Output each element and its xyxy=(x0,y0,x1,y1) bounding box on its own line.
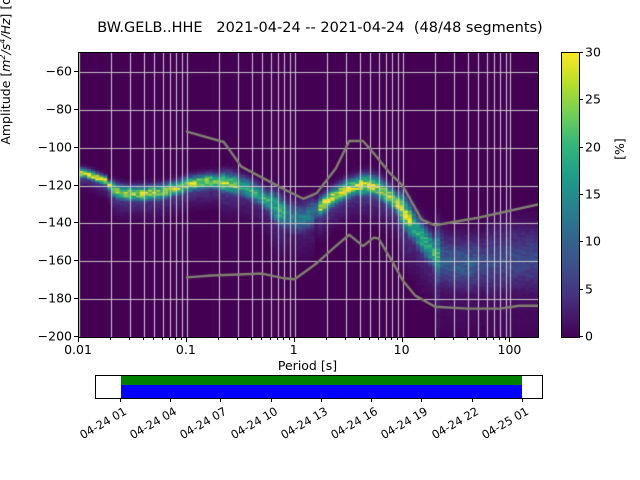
ppsd-histogram-canvas xyxy=(79,53,538,337)
x-axis-tick-mark-minor xyxy=(237,337,238,340)
colorbar-label: [%] xyxy=(612,104,627,194)
x-axis-tick-mark-major xyxy=(402,337,403,342)
y-axis-tick-mark xyxy=(74,260,78,261)
x-axis-tick-mark-minor xyxy=(345,337,346,340)
x-axis-tick-mark-minor xyxy=(477,337,478,340)
colorbar-tick-mark xyxy=(579,336,583,337)
x-axis-tick-label: 100 xyxy=(498,342,522,357)
x-axis-tick-mark-minor xyxy=(505,337,506,340)
x-axis-tick-mark-minor xyxy=(499,337,500,340)
colorbar-tick-label: 30 xyxy=(585,45,601,60)
x-axis-tick-label: 1 xyxy=(290,342,298,357)
ppsd-plot-area[interactable] xyxy=(78,52,539,338)
x-axis-tick-mark-minor xyxy=(391,337,392,340)
timeline-tick-mark xyxy=(472,398,473,402)
x-axis-tick-mark-minor xyxy=(486,337,487,340)
x-axis-tick-mark-minor xyxy=(218,337,219,340)
colorbar-tick-label: 5 xyxy=(585,281,593,296)
y-axis-tick-label: −120 xyxy=(6,177,72,192)
colorbar-tick-label: 0 xyxy=(585,329,593,344)
colorbar-tick-mark xyxy=(579,52,583,53)
y-axis-tick-label: −140 xyxy=(6,215,72,230)
timeline-tick-mark xyxy=(371,398,372,402)
x-axis-tick-mark-minor xyxy=(175,337,176,340)
x-axis-tick-mark-minor xyxy=(153,337,154,340)
x-axis-tick-mark-major xyxy=(509,337,510,342)
timeline-tick-mark xyxy=(421,398,422,402)
x-axis-tick-mark-minor xyxy=(397,337,398,340)
timeline-tick-mark xyxy=(220,398,221,402)
x-axis-tick-mark-major xyxy=(78,337,79,342)
y-axis-tick-mark xyxy=(74,222,78,223)
y-axis-tick-label: −180 xyxy=(6,291,72,306)
ppsd-figure: BW.GELB..HHE 2021-04-24 -- 2021-04-24 (4… xyxy=(0,0,640,480)
x-axis-tick-mark-minor xyxy=(251,337,252,340)
x-axis-tick-mark-major xyxy=(294,337,295,342)
coverage-bar-green xyxy=(121,376,522,385)
x-axis-tick-mark-minor xyxy=(359,337,360,340)
colorbar-tick-mark xyxy=(579,99,583,100)
x-axis-tick-mark-minor xyxy=(326,337,327,340)
y-axis-tick-mark xyxy=(74,147,78,148)
colorbar-tick-label: 20 xyxy=(585,139,601,154)
timeline-tick-mark xyxy=(522,398,523,402)
x-axis-tick-mark-minor xyxy=(467,337,468,340)
timeline-tick-mark xyxy=(321,398,322,402)
timeline-tick-mark xyxy=(170,398,171,402)
x-axis-tick-mark-minor xyxy=(143,337,144,340)
x-axis-label: Period [s] xyxy=(78,358,537,373)
y-axis-tick-mark xyxy=(74,71,78,72)
x-axis-tick-mark-minor xyxy=(129,337,130,340)
x-axis-tick-mark-minor xyxy=(277,337,278,340)
page-title: BW.GELB..HHE 2021-04-24 -- 2021-04-24 (4… xyxy=(0,20,640,36)
y-axis-tick-mark xyxy=(74,109,78,110)
x-axis-tick-mark-minor xyxy=(270,337,271,340)
colorbar-tick-mark xyxy=(579,241,583,242)
colorbar-tick-mark xyxy=(579,289,583,290)
x-axis-tick-mark-minor xyxy=(378,337,379,340)
x-axis-tick-mark-minor xyxy=(369,337,370,340)
x-axis-tick-mark-minor xyxy=(434,337,435,340)
x-axis-tick-mark-minor xyxy=(261,337,262,340)
x-axis-tick-mark-minor xyxy=(181,337,182,340)
x-axis-tick-mark-minor xyxy=(162,337,163,340)
colorbar xyxy=(561,52,580,338)
x-axis-tick-mark-major xyxy=(186,337,187,342)
colorbar-tick-label: 15 xyxy=(585,187,601,202)
x-axis-tick-mark-minor xyxy=(385,337,386,340)
y-axis-tick-label: −100 xyxy=(6,139,72,154)
coverage-bar-blue xyxy=(121,385,522,398)
x-axis-tick-label: 0.1 xyxy=(176,342,196,357)
timeline-tick-mark xyxy=(271,398,272,402)
x-axis-tick-mark-minor xyxy=(110,337,111,340)
y-axis-tick-label: −80 xyxy=(6,101,72,116)
x-axis-tick-label: 0.01 xyxy=(64,342,92,357)
colorbar-tick-mark xyxy=(579,147,583,148)
y-axis-tick-label: −200 xyxy=(6,329,72,344)
y-axis-tick-label: −160 xyxy=(6,253,72,268)
data-coverage-timeline[interactable] xyxy=(95,375,543,399)
x-axis-tick-label: 10 xyxy=(394,342,410,357)
x-axis-tick-mark-minor xyxy=(283,337,284,340)
x-axis-tick-mark-minor xyxy=(453,337,454,340)
y-axis-label: Amplitude [m2/s4/Hz] [dB] xyxy=(0,0,13,194)
y-axis-tick-mark xyxy=(74,185,78,186)
x-axis-tick-mark-minor xyxy=(289,337,290,340)
x-axis-tick-mark-minor xyxy=(493,337,494,340)
colorbar-tick-label: 10 xyxy=(585,234,601,249)
y-axis-tick-mark xyxy=(74,298,78,299)
x-axis-tick-mark-minor xyxy=(169,337,170,340)
timeline-tick-mark xyxy=(120,398,121,402)
colorbar-tick-label: 25 xyxy=(585,92,601,107)
colorbar-tick-mark xyxy=(579,194,583,195)
y-axis-tick-label: −60 xyxy=(6,63,72,78)
